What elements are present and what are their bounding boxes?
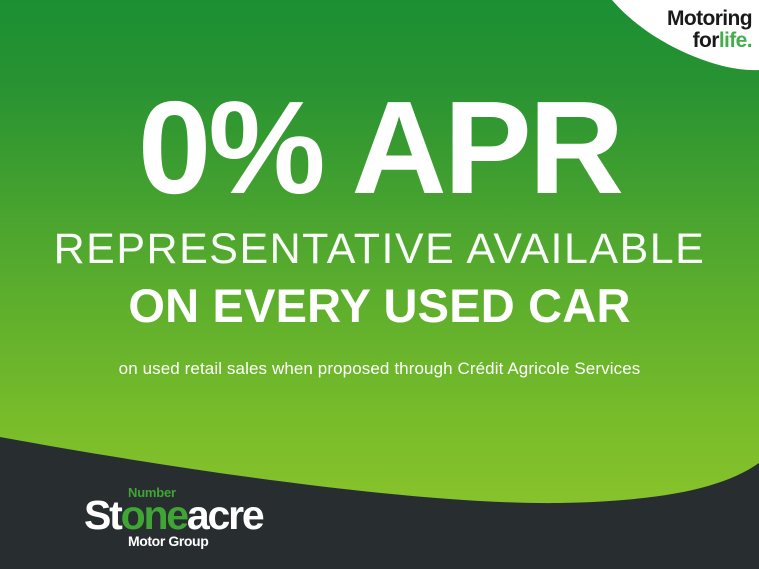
motoring-logo-line-2: forlife. (648, 30, 752, 51)
stoneacre-wordmark-acre: acre (187, 492, 263, 538)
motoring-logo-life-text: life. (719, 29, 752, 52)
motoring-logo-line-1: Motoring (648, 8, 752, 29)
fineprint-disclaimer: on used retail sales when proposed throu… (0, 360, 759, 377)
headline-apr: 0% APR (0, 82, 759, 214)
stoneacre-wordmark-one: one (121, 492, 187, 538)
motoring-logo-for-text: for (693, 29, 719, 52)
stoneacre-tagline: Motor Group (128, 534, 208, 548)
promotional-banner: Motoring forlife. 0% APR REPRESENTATIVE … (0, 0, 759, 569)
stoneacre-wordmark: Stoneacre (84, 495, 262, 536)
stoneacre-motor-group-logo: Number Stoneacre Motor Group (84, 486, 264, 548)
stoneacre-wordmark-st: St (84, 492, 121, 538)
subheadline-representative-available: REPRESENTATIVE AVAILABLE (0, 228, 759, 271)
motoring-for-life-logo: Motoring forlife. (648, 8, 752, 51)
subheadline-on-every-used-car: ON EVERY USED CAR (0, 282, 759, 329)
